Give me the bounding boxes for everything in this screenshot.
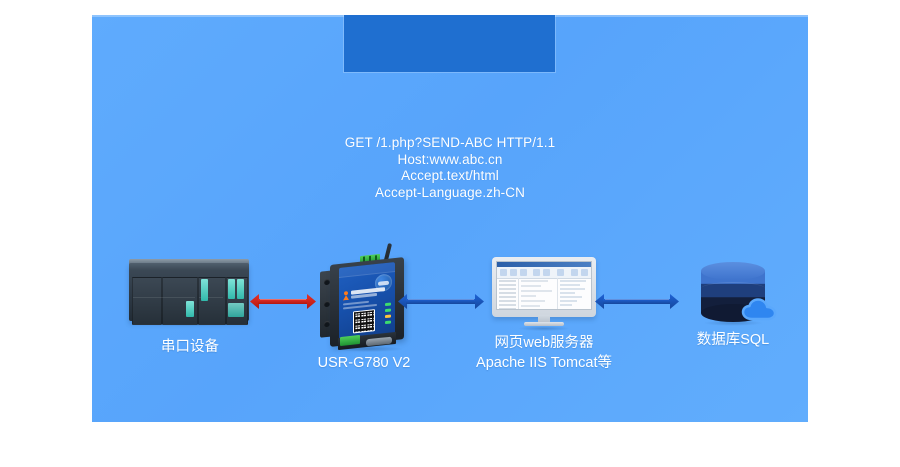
plc-indicator-c	[228, 279, 235, 299]
node-web-server: 网页web服务器 Apache IIS Tomcat等	[492, 257, 602, 329]
label-usr-g780: USR-G780 V2	[274, 353, 454, 373]
database-seam	[701, 282, 765, 295]
blue-backdrop-panel: GET /1.php?SEND-ABC HTTP/1.1 Host:www.ab…	[92, 15, 808, 422]
diagram-canvas: GET /1.php?SEND-ABC HTTP/1.1 Host:www.ab…	[0, 0, 900, 467]
plc-indicator-d	[237, 279, 244, 299]
screen-body	[497, 278, 591, 309]
screen-center-pane	[519, 278, 557, 309]
plc-indicator-a	[201, 279, 208, 301]
monitor-stand-base	[524, 322, 564, 326]
database-cylinder-top	[701, 262, 765, 280]
label-database: 数据库SQL	[643, 330, 823, 350]
brand-mark-icon	[343, 291, 349, 301]
router-front-panel	[339, 262, 395, 340]
monitor-bezel	[492, 257, 596, 317]
monitor-screen	[496, 261, 592, 310]
label-web-server: 网页web服务器 Apache IIS Tomcat等	[429, 333, 659, 373]
plc-indicator-e	[228, 303, 244, 317]
monitor-shadow	[518, 326, 570, 331]
qr-code-icon	[353, 309, 375, 333]
plc-body	[129, 263, 249, 321]
plc-module-1	[132, 277, 162, 325]
cloud-icon	[741, 298, 781, 322]
db9-serial-port	[366, 337, 392, 347]
screen-right-pane	[557, 278, 591, 309]
arrow-router-to-server	[398, 293, 484, 309]
node-database: 数据库SQL	[689, 260, 789, 332]
http-request-text: GET /1.php?SEND-ABC HTTP/1.1 Host:www.ab…	[92, 135, 808, 201]
status-leds	[385, 302, 393, 327]
node-serial-device: 串口设备	[126, 255, 254, 327]
header-block	[344, 15, 555, 72]
label-serial-device: 串口设备	[110, 337, 270, 357]
screen-left-pane	[497, 278, 519, 309]
arrow-serial-to-router	[250, 293, 316, 309]
arrow-server-to-database	[595, 293, 679, 309]
plc-indicator-b	[186, 301, 194, 317]
